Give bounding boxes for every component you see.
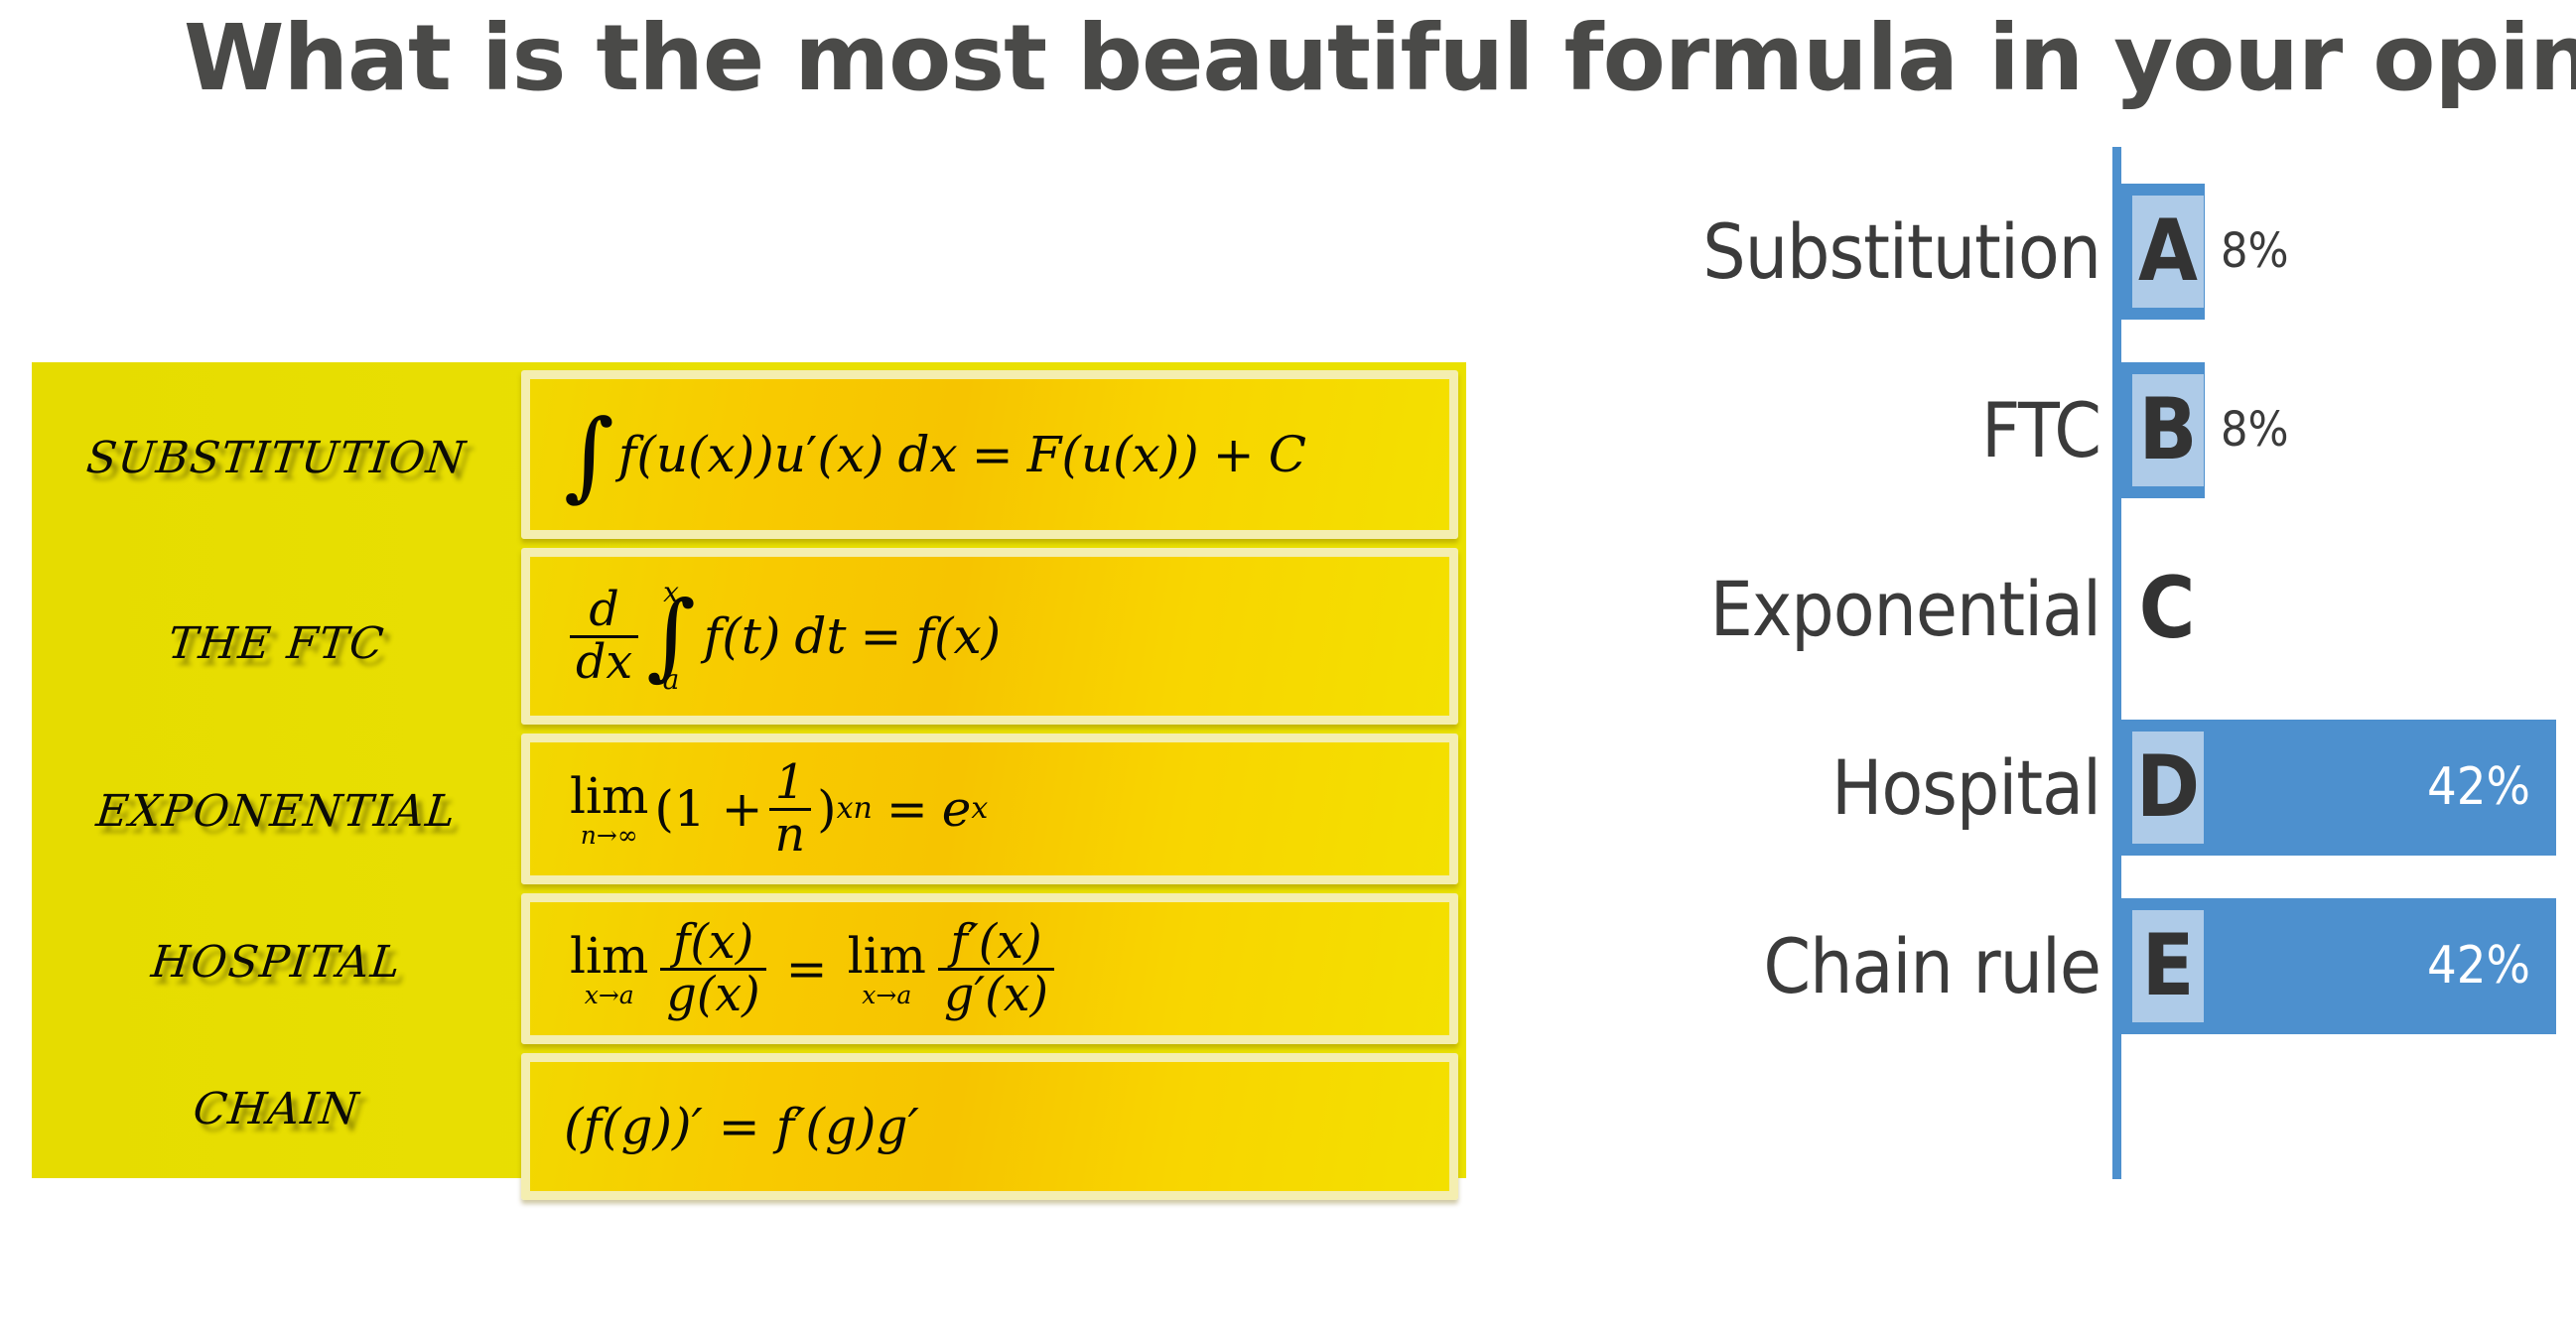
limit-subscript: n→∞ <box>581 823 638 848</box>
formula-rhs: f(x) <box>915 611 1001 661</box>
differential-dt: dt <box>794 611 846 661</box>
page-title: What is the most beautiful formula in yo… <box>184 6 2576 111</box>
formula-expression-the-ftc: d dx x ∫ a f(t)dt=f(x) <box>564 579 1001 695</box>
formula-expression-substitution: ∫f(u(x))u′(x)dx=F(u(x))+C <box>564 421 1306 488</box>
poll-bar-area: B 8% <box>2121 345 2205 514</box>
fraction-fprime-over-gprime: f′(x) g′(x) <box>938 919 1054 1018</box>
plus-sign: + <box>1213 430 1255 479</box>
poll-bar-area: D 42% <box>2121 703 2556 871</box>
poll-percent-label: 8% <box>2221 402 2289 458</box>
option-letter-badge: B <box>2132 374 2204 486</box>
fraction-denominator: g(x) <box>660 968 765 1019</box>
exponent-x: x <box>971 794 988 824</box>
poll-row-hospital[interactable]: Hospital D 42% <box>1469 703 2571 871</box>
formula-expression-hospital: lim x→a f(x) g(x) = lim x→a f′(x) g′(x) <box>564 919 1060 1018</box>
poll-bar: A 8% <box>2121 184 2205 320</box>
option-letter-badge: D <box>2132 732 2204 844</box>
poll-row-substitution[interactable]: Substitution A 8% <box>1469 167 2571 335</box>
equals-sign: = <box>861 611 902 661</box>
option-letter-badge: A <box>2132 196 2204 308</box>
formula-label-column: SUBSTITUTION THE FTC EXPONENTIAL HOSPITA… <box>32 362 521 1178</box>
fraction-f-over-g: f(x) g(x) <box>660 919 765 1018</box>
formula-operand: f(u(x))u <box>618 430 806 479</box>
fraction-denominator: n <box>769 808 812 860</box>
derivative-denominator: dx <box>570 635 638 687</box>
poll-results-chart: Substitution A 8% FTC B 8% Exponential C… <box>1469 139 2571 1191</box>
formula-label-the-ftc: THE FTC <box>22 551 531 735</box>
limit-operator-right: lim x→a <box>848 931 926 1007</box>
poll-option-label: FTC <box>1469 345 2112 514</box>
limit-subscript: x→a <box>862 983 911 1007</box>
formula-box-hospital: lim x→a f(x) g(x) = lim x→a f′(x) g′(x) <box>521 893 1458 1044</box>
differential-dx: dx <box>898 430 958 479</box>
formula-expression-exponential: lim n→∞ (1 + 1 n )xn=ex <box>564 759 988 859</box>
poll-bar-area: A 8% <box>2121 167 2205 335</box>
formula-table: SUBSTITUTION THE FTC EXPONENTIAL HOSPITA… <box>32 362 1466 1178</box>
limit-operator-left: lim x→a <box>570 931 648 1007</box>
fraction-denominator: g′(x) <box>938 968 1054 1019</box>
limit-operator: lim n→∞ <box>570 771 648 848</box>
fraction-numerator: 1 <box>769 759 811 808</box>
poll-row-ftc[interactable]: FTC B 8% <box>1469 345 2571 514</box>
equals-sign: = <box>886 784 928 834</box>
integrand: f(t) <box>704 611 781 661</box>
fraction-numerator: f′(x) <box>944 919 1047 968</box>
formula-label-chain: CHAIN <box>24 1037 528 1180</box>
poll-bar-area: E 42% <box>2121 881 2556 1050</box>
formula-expression-chain: (f(g))′ = f′(g)g′ <box>564 1102 919 1151</box>
derivative-operator: d dx <box>570 587 638 686</box>
formula-label-exponential: EXPONENTIAL <box>24 735 529 886</box>
poll-option-label: Chain rule <box>1469 881 2112 1050</box>
option-letter-badge: E <box>2132 910 2204 1022</box>
constant-c: C <box>1269 430 1306 479</box>
one-over-n-fraction: 1 n <box>769 759 812 859</box>
option-letter-badge: C <box>2127 553 2207 665</box>
limit-keyword: lim <box>570 771 648 821</box>
poll-percent-label: 42% <box>2427 936 2530 996</box>
derivative-numerator: d <box>583 587 624 635</box>
integral-lower-limit: a <box>663 666 680 694</box>
prime-mark: ′ <box>806 430 817 479</box>
formula-box-exponential: lim n→∞ (1 + 1 n )xn=ex <box>521 733 1458 884</box>
euler-number: e <box>942 784 972 834</box>
poll-percent-label: 8% <box>2221 223 2289 279</box>
formula-box-chain: (f(g))′ = f′(g)g′ <box>521 1053 1458 1200</box>
poll-percent-label: 42% <box>2427 757 2530 817</box>
poll-option-label: Exponential <box>1469 524 2112 693</box>
limit-body-close: ) <box>817 784 837 834</box>
poll-row-exponential[interactable]: Exponential C <box>1469 524 2571 693</box>
formula-box-the-ftc: d dx x ∫ a f(t)dt=f(x) <box>521 548 1458 725</box>
equals-sign: = <box>972 430 1014 479</box>
formula-label-hospital: HOSPITAL <box>24 886 529 1037</box>
formula-operand-2: (x) <box>817 430 883 479</box>
formula-box-column: ∫f(u(x))u′(x)dx=F(u(x))+C d dx x ∫ a f(t… <box>521 362 1466 1178</box>
formula-rhs: F(u(x)) <box>1027 430 1199 479</box>
formula-label-substitution: SUBSTITUTION <box>22 364 531 551</box>
integral-sign-icon: ∫ <box>564 421 614 488</box>
poll-bar: D 42% <box>2121 720 2556 856</box>
poll-row-chain-rule[interactable]: Chain rule E 42% <box>1469 881 2571 1050</box>
limit-subscript: x→a <box>585 983 634 1007</box>
equals-sign: = <box>786 944 828 994</box>
formula-box-substitution: ∫f(u(x))u′(x)dx=F(u(x))+C <box>521 370 1458 539</box>
poll-bar: E 42% <box>2121 898 2556 1034</box>
definite-integral-icon: x ∫ a <box>646 579 696 695</box>
exponent-xn: xn <box>837 794 873 824</box>
poll-bar: B 8% <box>2121 362 2205 498</box>
poll-option-label: Substitution <box>1469 167 2112 335</box>
limit-body-open: (1 + <box>654 784 762 834</box>
limit-keyword: lim <box>848 931 926 981</box>
limit-keyword: lim <box>570 931 648 981</box>
poll-option-label: Hospital <box>1469 703 2112 871</box>
integral-sign-icon: ∫ <box>646 602 696 671</box>
fraction-numerator: f(x) <box>667 919 759 968</box>
